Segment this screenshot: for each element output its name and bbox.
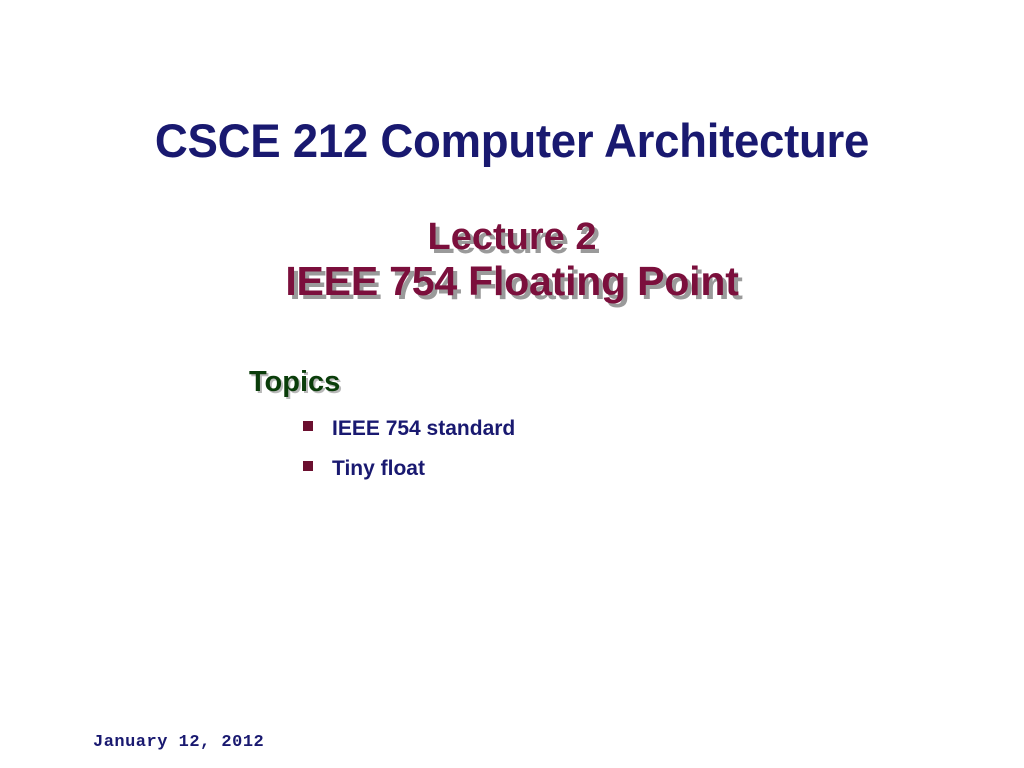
slide-date: January 12, 2012: [93, 733, 264, 753]
list-item: Tiny float: [303, 457, 515, 481]
page-title: CSCE 212 Computer Architecture: [15, 115, 1008, 167]
square-bullet-icon: [303, 461, 313, 471]
topics-list: IEEE 754 standard Tiny float: [303, 417, 515, 497]
list-item: IEEE 754 standard: [303, 417, 515, 441]
subtitle-line-topic: IEEE 754 Floating Point: [0, 258, 1024, 305]
square-bullet-icon: [303, 421, 313, 431]
list-item-label: Tiny float: [332, 457, 425, 481]
list-item-label: IEEE 754 standard: [332, 417, 515, 441]
subtitle-line-lecture: Lecture 2: [0, 216, 1024, 258]
presentation-slide: CSCE 212 Computer Architecture Lecture 2…: [0, 0, 1024, 768]
slide-subtitle: Lecture 2 IEEE 754 Floating Point: [0, 216, 1024, 305]
topics-heading: Topics: [249, 366, 340, 398]
